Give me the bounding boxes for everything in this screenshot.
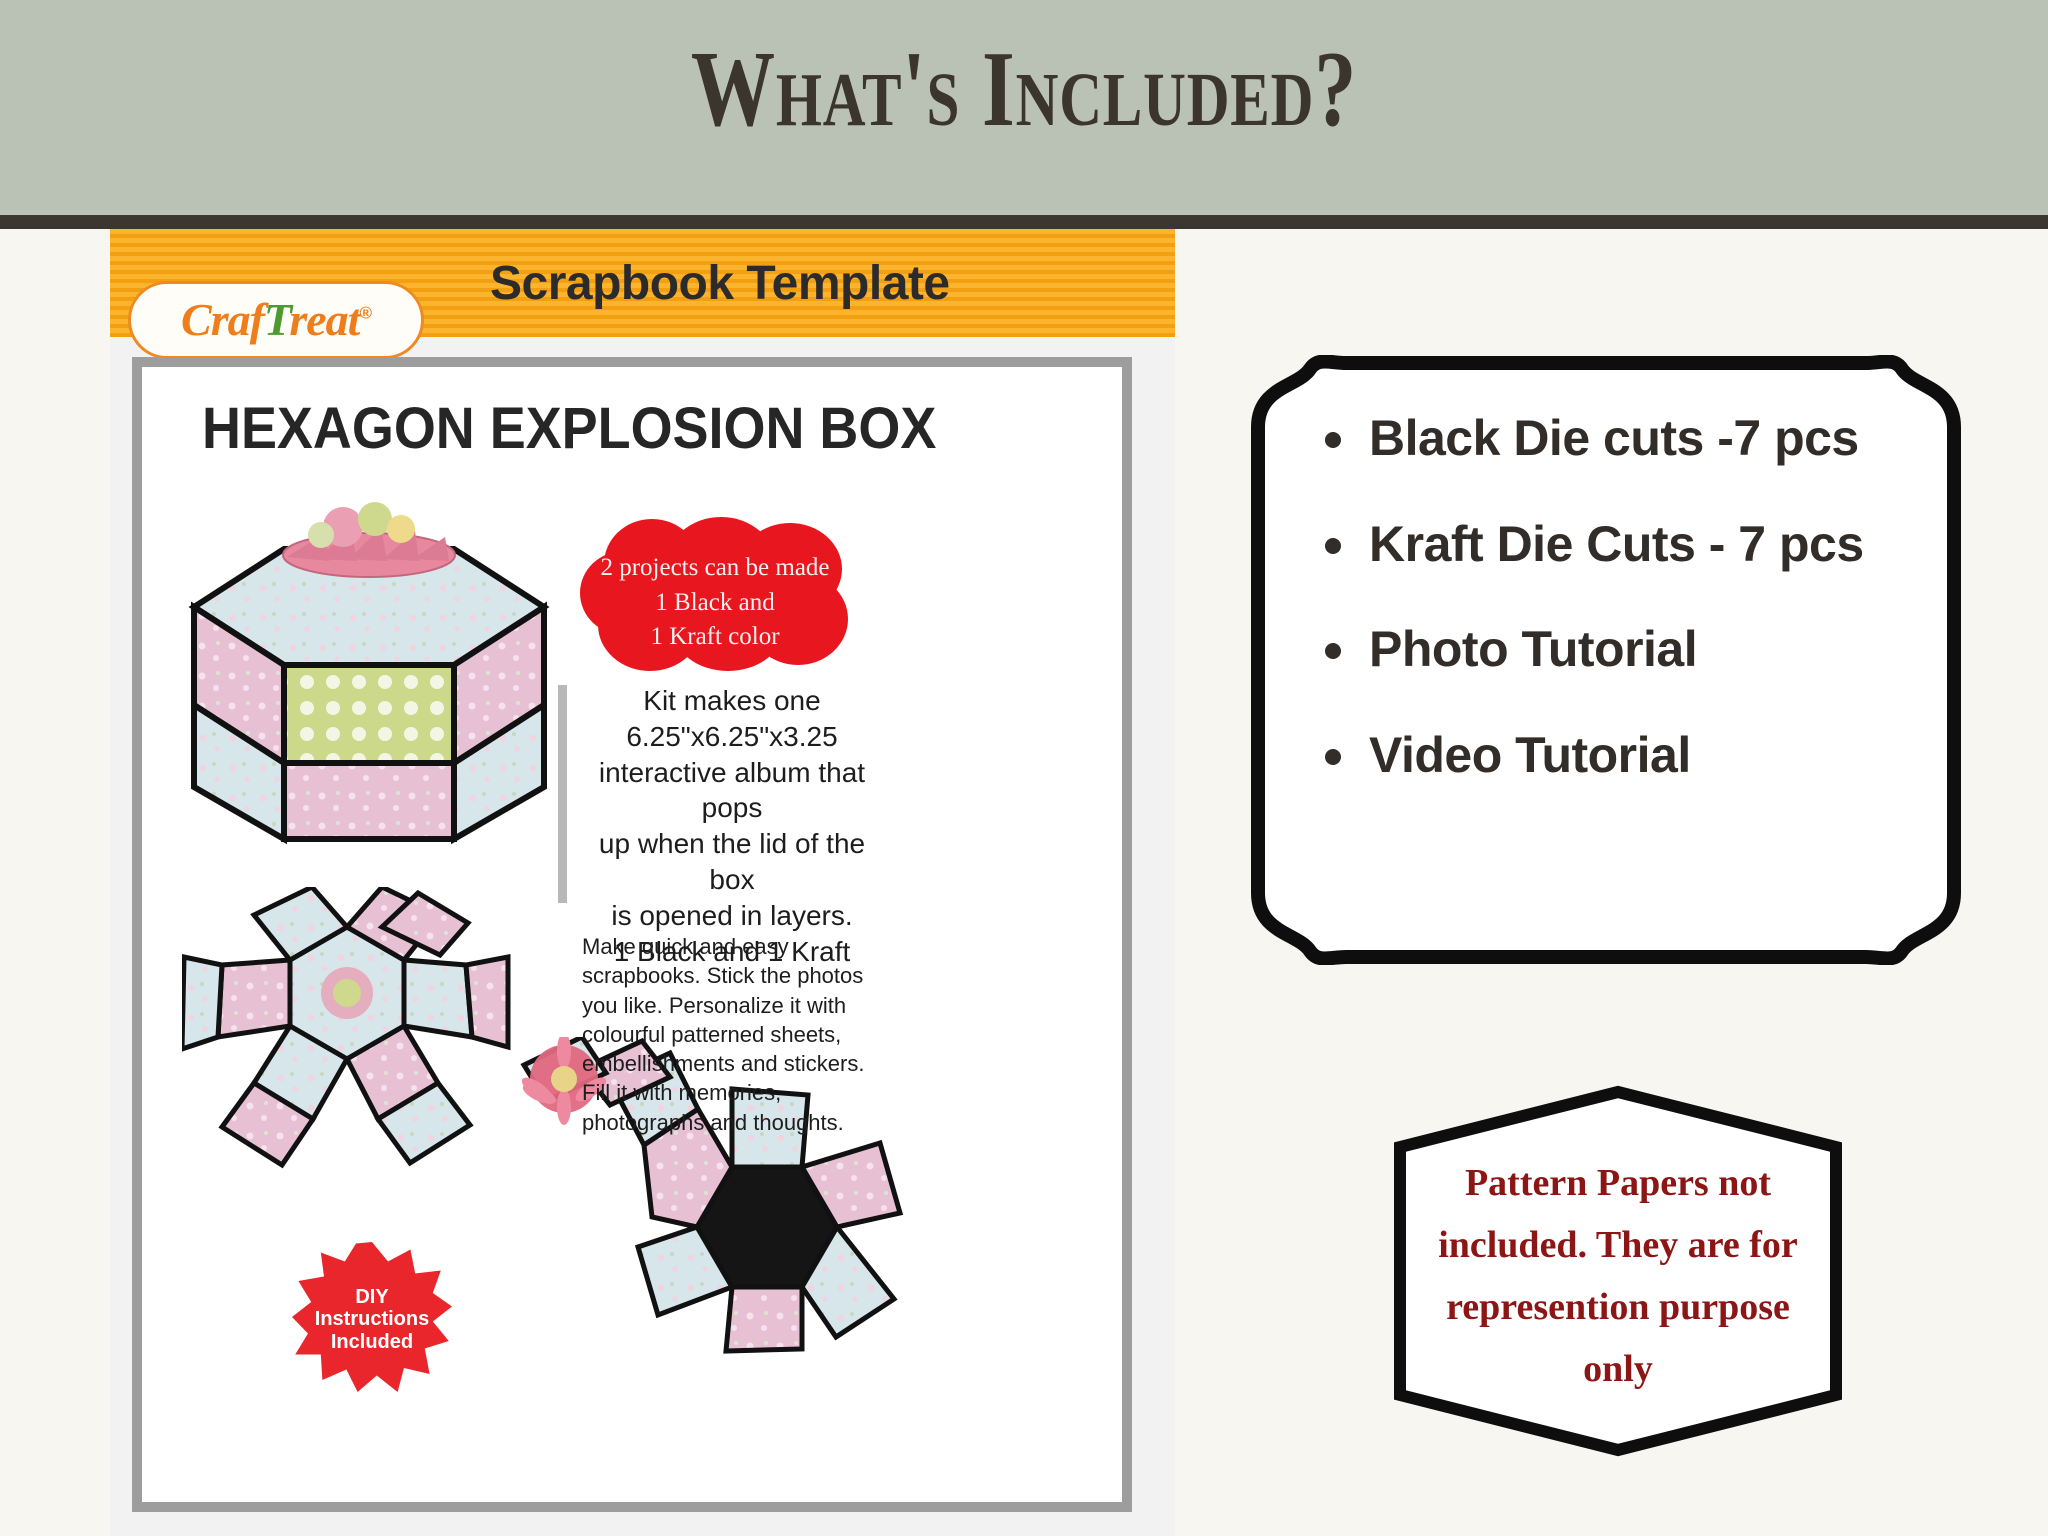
list-item[interactable]: Kraft Die Cuts - 7 pcs: [1325, 516, 1945, 574]
product-title: HEXAGON EXPLOSION BOX: [202, 395, 1020, 462]
list-item-label: Video Tutorial: [1369, 727, 1691, 785]
list-item[interactable]: Black Die cuts -7 pcs: [1325, 410, 1945, 468]
bullet-dot-icon: [1325, 643, 1341, 659]
product-photo-closed-box: [164, 487, 584, 857]
included-items-list: Black Die cuts -7 pcs Kraft Die Cuts - 7…: [1325, 410, 1945, 832]
bullet-dot-icon: [1325, 432, 1341, 448]
diy-instructions-badge-text: DIY Instructions Included: [292, 1286, 452, 1353]
product-description: Make quick and easy scrapbooks. Stick th…: [582, 932, 887, 1137]
cloud-line-3: 1 Kraft color: [580, 620, 850, 655]
diy-line-2: Instructions: [292, 1308, 452, 1330]
logo-wordmark: CrafTreat®: [181, 297, 371, 343]
product-card: CrafTreat® Scrapbook Template HEXAGON EX…: [110, 229, 1175, 1536]
craftreat-logo: CrafTreat®: [128, 281, 424, 359]
diy-line-3: Included: [292, 1331, 452, 1353]
disclaimer-text: Pattern Papers not included. They are fo…: [1433, 1153, 1803, 1401]
projects-cloud-badge-text: 2 projects can be made 1 Black and 1 Kra…: [580, 551, 850, 655]
kit-description-rule: [558, 685, 567, 903]
header-divider: [0, 215, 2048, 229]
cloud-line-2: 1 Black and: [580, 586, 850, 621]
bullet-dot-icon: [1325, 749, 1341, 765]
logo-t-text: T: [264, 294, 289, 345]
list-item-label: Kraft Die Cuts - 7 pcs: [1369, 516, 1864, 574]
brand-title: Scrapbook Template: [490, 251, 1090, 315]
logo-reat-text: reat: [289, 294, 359, 345]
product-card-content: HEXAGON EXPLOSION BOX: [142, 367, 1122, 1502]
product-photo-opened-flat: [182, 887, 512, 1217]
product-card-frame: HEXAGON EXPLOSION BOX: [132, 357, 1132, 1512]
diy-line-1: DIY: [292, 1286, 452, 1308]
brand-bar: CrafTreat® Scrapbook Template: [110, 229, 1175, 337]
list-item-label: Photo Tutorial: [1369, 621, 1697, 679]
disclaimer-hexagon: Pattern Papers not included. They are fo…: [1393, 1085, 1843, 1457]
list-item-label: Black Die cuts -7 pcs: [1369, 410, 1859, 468]
diy-instructions-badge: DIY Instructions Included: [292, 1242, 452, 1392]
kit-description: Kit makes one 6.25"x6.25"x3.25 interacti…: [582, 683, 882, 970]
included-items-panel: Black Die cuts -7 pcs Kraft Die Cuts - 7…: [1250, 355, 1962, 965]
bullet-dot-icon: [1325, 538, 1341, 554]
cloud-line-1: 2 projects can be made: [580, 551, 850, 586]
registered-trademark-icon: ®: [359, 304, 371, 323]
list-item[interactable]: Photo Tutorial: [1325, 621, 1945, 679]
logo-craf-text: Craf: [181, 294, 264, 345]
list-item[interactable]: Video Tutorial: [1325, 727, 1945, 785]
page-title: What's Included?: [225, 28, 1822, 152]
projects-cloud-badge: 2 projects can be made 1 Black and 1 Kra…: [580, 517, 850, 672]
